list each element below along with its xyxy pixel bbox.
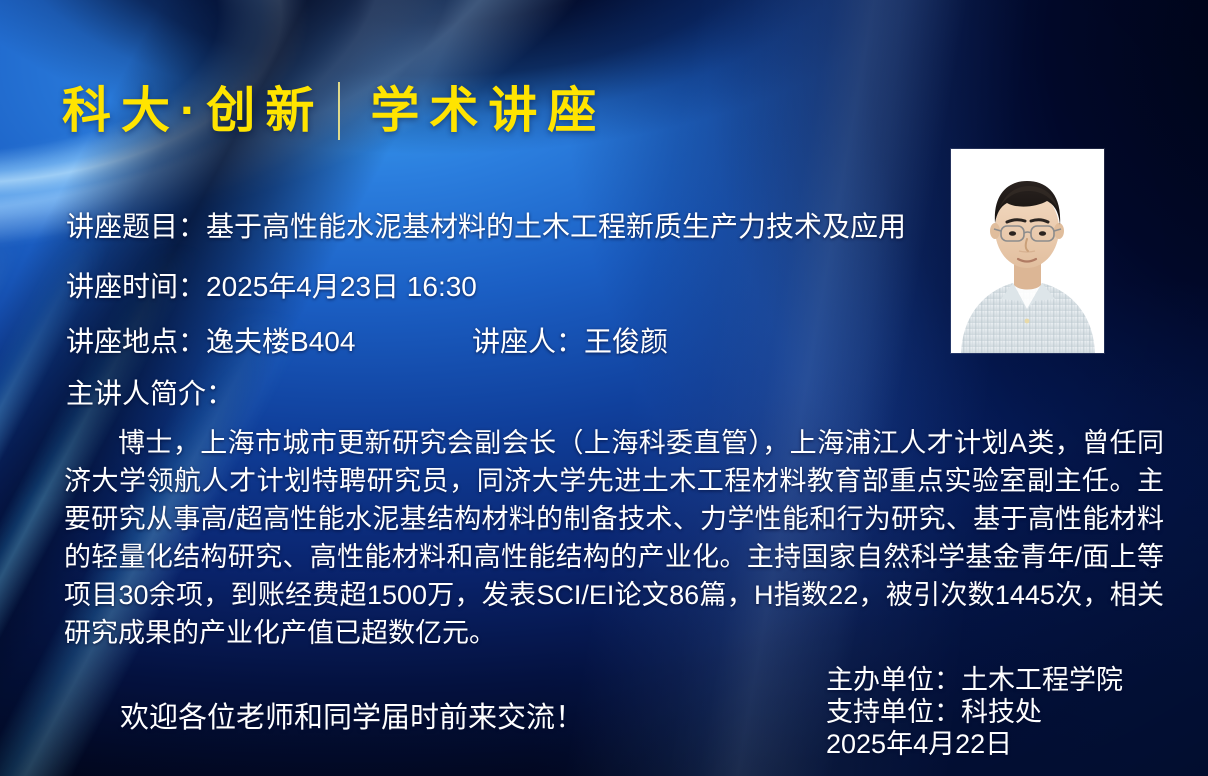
- lecture-topic-row: 讲座题目：基于高性能水泥基材料的土木工程新质生产力技术及应用: [66, 205, 906, 245]
- host-organization-value: 土木工程学院: [961, 665, 1123, 695]
- title-divider: [338, 82, 340, 140]
- host-organization-label: 主办单位：: [826, 665, 961, 695]
- lecture-place-label: 讲座地点：: [66, 326, 206, 357]
- welcome-message: 欢迎各位老师和同学届时前来交流！: [120, 694, 584, 736]
- speaker-portrait-illustration: [951, 149, 1104, 353]
- lecture-topic-value: 基于高性能水泥基材料的土木工程新质生产力技术及应用: [206, 211, 906, 242]
- lecture-topic-label: 讲座题目：: [66, 211, 206, 242]
- lecture-place-row: 讲座地点：逸夫楼B404: [66, 320, 355, 360]
- lecture-time-label: 讲座时间：: [66, 271, 206, 302]
- speaker-photo: [951, 149, 1104, 353]
- poster-date: 2025年4月22日: [826, 728, 1123, 760]
- lecture-speaker-row: 讲座人：王俊颜: [472, 320, 668, 360]
- support-organization-label: 支持单位：: [826, 697, 961, 727]
- support-organization-row: 支持单位：科技处: [826, 696, 1123, 728]
- poster-footer: 主办单位：土木工程学院 支持单位：科技处 2025年4月22日: [826, 664, 1123, 760]
- lecture-time-row: 讲座时间：2025年4月23日 16:30: [66, 265, 477, 305]
- poster-content: 科大·创新 学术讲座: [0, 0, 1208, 776]
- poster-title: 科大·创新 学术讲座: [62, 82, 606, 140]
- lecture-speaker-label: 讲座人：: [472, 326, 584, 357]
- speaker-bio-text: 博士，上海市城市更新研究会副会长（上海科委直管），上海浦江人才计划A类，曾任同济…: [64, 424, 1164, 652]
- lecture-place-value: 逸夫楼B404: [206, 326, 355, 357]
- title-main-text: 科大·创新: [62, 87, 324, 136]
- lecture-time-value: 2025年4月23日 16:30: [206, 271, 477, 302]
- speaker-bio-heading: 主讲人简介：: [66, 372, 234, 412]
- host-organization-row: 主办单位：土木工程学院: [826, 664, 1123, 696]
- title-sub-text: 学术讲座: [370, 87, 606, 136]
- support-organization-value: 科技处: [961, 697, 1042, 727]
- speaker-bio: 博士，上海市城市更新研究会副会长（上海科委直管），上海浦江人才计划A类，曾任同济…: [64, 424, 1164, 652]
- lecture-poster: 科大·创新 学术讲座: [0, 0, 1208, 776]
- lecture-speaker-value: 王俊颜: [584, 326, 668, 357]
